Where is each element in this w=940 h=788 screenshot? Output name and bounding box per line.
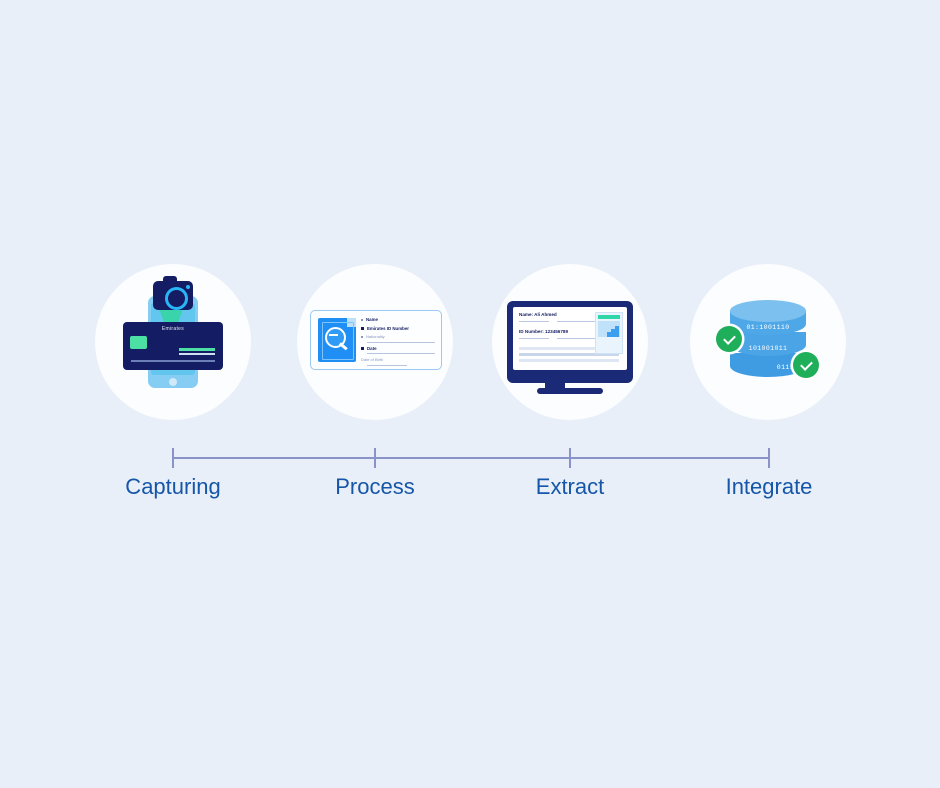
step-label-extract[interactable]: Extract [536,474,604,500]
field-row: Date [361,345,435,352]
id-card: Emirates [123,322,223,370]
timeline-tick-process [374,448,376,468]
screen-field-name: Name: Ali Ahmed [519,312,557,317]
screen-bar [519,359,619,362]
id-card-line [131,360,215,362]
field-label: Nationality [366,334,385,339]
step-icon-integrate[interactable]: 01:1001110 101001011 0115 [690,264,846,420]
timeline-tick-integrate [768,448,770,468]
id-card-line [179,348,215,351]
screen-chart-panel [595,312,623,354]
step-icon-process[interactable]: Name Emirates ID Number Nationality Date [297,264,453,420]
screen-rule [557,338,595,339]
phone-camera-id-card-icon: Emirates [95,264,251,420]
field-label: Name [366,317,378,322]
check-circle-icon [793,352,819,378]
field-rule [367,365,407,366]
chart-panel-body [598,321,620,337]
timeline-tick-capturing [172,448,174,468]
binary-row: 101001011 [730,345,806,352]
binary-row: 01:1001110 [730,324,806,331]
document-magnifier-icon: Name Emirates ID Number Nationality Date [297,264,453,420]
extracted-field-list: Name Emirates ID Number Nationality Date [361,316,435,368]
step-label-process[interactable]: Process [335,474,414,500]
timeline-axis [173,457,769,459]
phone-home-button [169,378,177,386]
id-card-line [179,353,215,355]
timeline-tick-extract [569,448,571,468]
field-row: Name [361,316,435,323]
screen-rule [557,321,595,322]
screen-rule [519,321,549,322]
field-label: Date [367,346,377,351]
diagram-canvas: Emirates Name [0,0,940,788]
screen-rule [519,338,549,339]
step-label-integrate[interactable]: Integrate [726,474,813,500]
bullet-icon [361,319,363,321]
monitor-screen: Name: Ali Ahmed ID Number: 123456789 [513,307,627,370]
chart-panel-header [598,315,620,319]
field-row: Nationality [361,333,435,340]
step-label-capturing[interactable]: Capturing [125,474,220,500]
field-label: Date of Birth [361,357,383,362]
field-row: Emirates ID Number [361,325,435,332]
step-icon-extract[interactable]: Name: Ali Ahmed ID Number: 123456789 [492,264,648,420]
field-rule [367,353,435,354]
camera-lens-icon [165,287,188,310]
field-label: Emirates ID Number [367,326,409,331]
desktop-monitor-icon: Name: Ali Ahmed ID Number: 123456789 [492,264,648,420]
check-circle-icon [716,326,742,352]
id-card-chip [130,336,147,349]
screen-field-id: ID Number: 123456789 [519,329,568,334]
monitor-bezel: Name: Ali Ahmed ID Number: 123456789 [507,301,633,383]
bullet-icon [361,327,364,330]
chart-bar [615,326,619,337]
monitor-base [537,388,603,394]
database-top [730,300,806,322]
step-icon-capturing[interactable]: Emirates [95,264,251,420]
database-check-icon: 01:1001110 101001011 0115 [690,264,846,420]
bullet-icon [361,347,364,350]
camera-flash-dot [186,285,190,289]
magnifier-bar [329,334,338,336]
field-row: Date of Birth [361,356,435,363]
screen-bar [519,347,595,350]
id-card-title: Emirates [123,326,223,332]
field-rule [367,342,435,343]
bullet-icon [361,336,363,338]
